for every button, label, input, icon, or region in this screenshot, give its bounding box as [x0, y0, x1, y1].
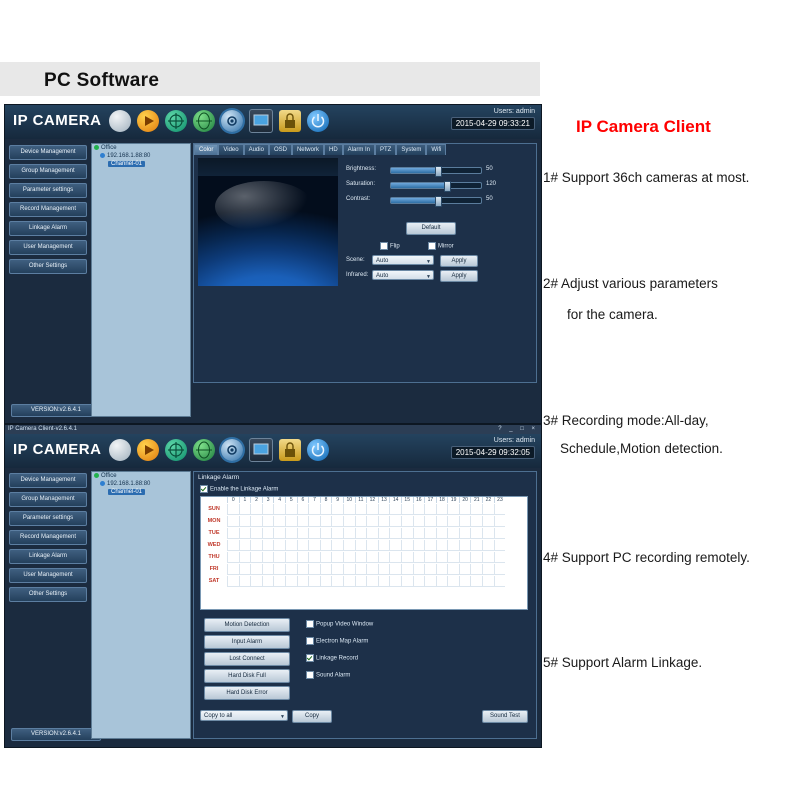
- schedule-cell[interactable]: [285, 564, 297, 575]
- schedule-cell[interactable]: [343, 540, 355, 551]
- schedule-cell[interactable]: [262, 516, 274, 527]
- schedule-cell[interactable]: [389, 576, 401, 587]
- tab-system[interactable]: System: [396, 144, 426, 155]
- schedule-cell[interactable]: [389, 564, 401, 575]
- schedule-cell[interactable]: [459, 504, 471, 515]
- schedule-cell[interactable]: [470, 552, 482, 563]
- hour-label: 8: [320, 497, 332, 503]
- schedule-cell[interactable]: [273, 516, 285, 527]
- tree-root[interactable]: Office: [92, 144, 190, 152]
- schedule-cell[interactable]: [239, 516, 251, 527]
- schedule-cell[interactable]: [331, 504, 343, 515]
- window1-clock: 2015-04-29 09:33:21: [451, 117, 535, 130]
- infrared-label: Infrared:: [346, 272, 368, 278]
- tab-video[interactable]: Video: [218, 144, 243, 155]
- schedule-cell[interactable]: [401, 540, 413, 551]
- schedule-cell[interactable]: [494, 528, 506, 539]
- schedule-cell[interactable]: [227, 576, 239, 587]
- monitor-icon[interactable]: [249, 109, 273, 133]
- hour-label: 15: [401, 497, 413, 503]
- schedule-cell[interactable]: [378, 528, 390, 539]
- infrared-apply-button[interactable]: Apply: [440, 270, 478, 282]
- schedule-cell[interactable]: [424, 504, 436, 515]
- infrared-select[interactable]: Auto▼: [372, 270, 434, 280]
- schedule-cell[interactable]: [343, 564, 355, 575]
- schedule-cell[interactable]: [285, 528, 297, 539]
- schedule-cell[interactable]: [366, 564, 378, 575]
- schedule-cell[interactable]: [285, 540, 297, 551]
- schedule-cell[interactable]: [239, 528, 251, 539]
- lock-icon[interactable]: [279, 439, 301, 461]
- hour-label: 9: [331, 497, 343, 503]
- schedule-cell[interactable]: [320, 516, 332, 527]
- default-button[interactable]: Default: [406, 222, 456, 235]
- schedule-cell[interactable]: [285, 516, 297, 527]
- annotation-2: 2# Adjust various parameters: [543, 276, 718, 291]
- schedule-day-label: THU: [201, 554, 227, 560]
- schedule-cell[interactable]: [378, 540, 390, 551]
- tree-channel[interactable]: Channel-01: [92, 160, 190, 168]
- window2-titlebar: IP Camera Client-v2.6.4.1 ? _ □ ×: [5, 425, 541, 434]
- schedule-cell[interactable]: [250, 564, 262, 575]
- schedule-cell[interactable]: [343, 528, 355, 539]
- schedule-cell[interactable]: [355, 576, 367, 587]
- sidebar-item-group-management[interactable]: Group Management: [9, 492, 87, 507]
- contrast-label: Contrast:: [346, 196, 370, 202]
- hour-label: 14: [389, 497, 401, 503]
- schedule-cell[interactable]: [250, 576, 262, 587]
- schedule-cell[interactable]: [297, 564, 309, 575]
- schedule-cell[interactable]: [250, 504, 262, 515]
- schedule-cell[interactable]: [401, 552, 413, 563]
- schedule-cell[interactable]: [459, 564, 471, 575]
- schedule-cell[interactable]: [436, 564, 448, 575]
- schedule-cell[interactable]: [343, 552, 355, 563]
- schedule-cell[interactable]: [401, 576, 413, 587]
- disc-icon[interactable]: [109, 110, 131, 132]
- mirror-checkbox[interactable]: Mirror: [428, 242, 454, 250]
- crosshair-icon[interactable]: [165, 439, 187, 461]
- schedule-rows[interactable]: SUNMONTUEWEDTHUFRISAT: [201, 503, 527, 587]
- schedule-cell[interactable]: [401, 504, 413, 515]
- window2-content-panel: Linkage Alarm Enable the Linkage Alarm 0…: [193, 471, 537, 739]
- sidebar-item-parameter-settings[interactable]: Parameter settings: [9, 183, 87, 198]
- schedule-cell[interactable]: [459, 516, 471, 527]
- schedule-cell[interactable]: [447, 540, 459, 551]
- schedule-cell[interactable]: [494, 516, 506, 527]
- schedule-cell[interactable]: [331, 528, 343, 539]
- electron-map-alarm-box[interactable]: [306, 637, 314, 645]
- schedule-cell[interactable]: [308, 504, 320, 515]
- schedule-cell[interactable]: [494, 576, 506, 587]
- schedule-cell[interactable]: [227, 516, 239, 527]
- schedule-cell[interactable]: [470, 576, 482, 587]
- sound-test-button[interactable]: Sound Test: [482, 710, 528, 723]
- power-icon[interactable]: [307, 110, 329, 132]
- sidebar-item-record-management[interactable]: Record Management: [9, 530, 87, 545]
- schedule-cell[interactable]: [389, 540, 401, 551]
- brightness-value: 50: [486, 166, 493, 172]
- schedule-cell[interactable]: [413, 516, 425, 527]
- schedule-cell[interactable]: [297, 540, 309, 551]
- scene-apply-button[interactable]: Apply: [440, 255, 478, 267]
- schedule-cell[interactable]: [262, 552, 274, 563]
- schedule-cell[interactable]: [285, 552, 297, 563]
- schedule-cell[interactable]: [308, 576, 320, 587]
- schedule-cell[interactable]: [273, 552, 285, 563]
- tab-hd[interactable]: HD: [324, 144, 343, 155]
- schedule-day-row[interactable]: SUN: [201, 503, 527, 515]
- schedule-cell[interactable]: [470, 528, 482, 539]
- schedule-cell[interactable]: [447, 576, 459, 587]
- tab-audio[interactable]: Audio: [244, 144, 269, 155]
- schedule-cell[interactable]: [366, 540, 378, 551]
- schedule-cell[interactable]: [436, 540, 448, 551]
- tree-ip[interactable]: 192.168.1.88:80: [92, 152, 190, 160]
- schedule-cell[interactable]: [389, 528, 401, 539]
- window1-version: VERSION:v2.6.4.1: [11, 404, 101, 417]
- sidebar-item-user-management[interactable]: User Management: [9, 240, 87, 255]
- device-dot-icon: [100, 153, 105, 158]
- sidebar-item-other-settings[interactable]: Other Settings: [9, 259, 87, 274]
- schedule-cell[interactable]: [366, 576, 378, 587]
- tab-network[interactable]: Network: [292, 144, 324, 155]
- schedule-cell[interactable]: [297, 576, 309, 587]
- schedule-cell[interactable]: [297, 504, 309, 515]
- video-preview[interactable]: [198, 158, 338, 286]
- sidebar-item-record-management[interactable]: Record Management: [9, 202, 87, 217]
- schedule-cell[interactable]: [297, 528, 309, 539]
- schedule-cell[interactable]: [378, 516, 390, 527]
- schedule-cell[interactable]: [424, 540, 436, 551]
- schedule-cell[interactable]: [355, 516, 367, 527]
- monitor-icon[interactable]: [249, 438, 273, 462]
- schedule-cell[interactable]: [273, 564, 285, 575]
- schedule-cell[interactable]: [436, 576, 448, 587]
- schedule-cell[interactable]: [470, 504, 482, 515]
- schedule-cell[interactable]: [343, 576, 355, 587]
- schedule-cell[interactable]: [285, 504, 297, 515]
- schedule-cell[interactable]: [239, 552, 251, 563]
- motion-detection-button[interactable]: Motion Detection: [204, 618, 290, 632]
- mirror-checkbox-box[interactable]: [428, 242, 436, 250]
- schedule-cell[interactable]: [413, 564, 425, 575]
- schedule-cell[interactable]: [320, 564, 332, 575]
- schedule-cell[interactable]: [308, 564, 320, 575]
- sound-alarm-checkbox[interactable]: Sound Alarm: [306, 671, 350, 679]
- schedule-cell[interactable]: [470, 540, 482, 551]
- sidebar-item-device-management[interactable]: Device Management: [9, 145, 87, 160]
- linkage-record-checkbox[interactable]: Linkage Record: [306, 654, 358, 662]
- schedule-cell[interactable]: [494, 552, 506, 563]
- schedule-cell[interactable]: [308, 540, 320, 551]
- hour-label: 10: [343, 497, 355, 503]
- schedule-cell[interactable]: [273, 504, 285, 515]
- hour-label: 3: [262, 497, 274, 503]
- window1-device-tree[interactable]: Office 192.168.1.88:80 Channel-01: [91, 143, 191, 417]
- schedule-day-cells[interactable]: [227, 540, 505, 551]
- window1-user-info: Users: admin 2015-04-29 09:33:21: [451, 108, 535, 130]
- schedule-cell[interactable]: [331, 516, 343, 527]
- schedule-cell[interactable]: [343, 516, 355, 527]
- status-dot-icon: [94, 145, 99, 150]
- schedule-cell[interactable]: [366, 504, 378, 515]
- schedule-cell[interactable]: [262, 528, 274, 539]
- schedule-cell[interactable]: [436, 528, 448, 539]
- sound-alarm-box[interactable]: [306, 671, 314, 679]
- schedule-cell[interactable]: [239, 564, 251, 575]
- copy-to-all-select[interactable]: Copy to all▼: [200, 710, 288, 721]
- schedule-cell[interactable]: [482, 528, 494, 539]
- alarm-schedule-grid[interactable]: 0 1 2 3 4 5 6 7 8 9 10 11 12 13 14 15 16: [200, 496, 528, 610]
- schedule-cell[interactable]: [389, 552, 401, 563]
- schedule-cell[interactable]: [424, 564, 436, 575]
- disc-icon[interactable]: [109, 439, 131, 461]
- schedule-cell[interactable]: [273, 540, 285, 551]
- schedule-cell[interactable]: [262, 564, 274, 575]
- schedule-cell[interactable]: [297, 552, 309, 563]
- schedule-cell[interactable]: [355, 552, 367, 563]
- popup-video-window-checkbox[interactable]: Popup Video Window: [306, 620, 373, 628]
- schedule-cell[interactable]: [401, 564, 413, 575]
- schedule-cell[interactable]: [320, 504, 332, 515]
- schedule-cell[interactable]: [482, 516, 494, 527]
- schedule-cell[interactable]: [239, 504, 251, 515]
- schedule-cell[interactable]: [378, 576, 390, 587]
- schedule-day-label: WED: [201, 542, 227, 548]
- schedule-cell[interactable]: [227, 504, 239, 515]
- schedule-cell[interactable]: [320, 528, 332, 539]
- sidebar-item-other-settings[interactable]: Other Settings: [9, 587, 87, 602]
- schedule-cell[interactable]: [482, 552, 494, 563]
- schedule-day-row[interactable]: TUE: [201, 527, 527, 539]
- tab-osd[interactable]: OSD: [269, 144, 292, 155]
- schedule-cell[interactable]: [308, 528, 320, 539]
- schedule-cell[interactable]: [459, 552, 471, 563]
- hour-label: 21: [470, 497, 482, 503]
- schedule-cell[interactable]: [378, 552, 390, 563]
- electron-map-alarm-checkbox[interactable]: Electron Map Alarm: [306, 637, 368, 645]
- schedule-cell[interactable]: [389, 516, 401, 527]
- lock-icon[interactable]: [279, 110, 301, 132]
- schedule-cell[interactable]: [366, 516, 378, 527]
- popup-video-window-box[interactable]: [306, 620, 314, 628]
- schedule-cell[interactable]: [447, 516, 459, 527]
- schedule-cell[interactable]: [250, 528, 262, 539]
- schedule-cell[interactable]: [447, 552, 459, 563]
- schedule-cell[interactable]: [227, 528, 239, 539]
- schedule-cell[interactable]: [436, 552, 448, 563]
- schedule-cell[interactable]: [401, 516, 413, 527]
- crosshair-icon[interactable]: [165, 110, 187, 132]
- lost-connect-button[interactable]: Lost Connect: [204, 652, 290, 666]
- schedule-day-label: MON: [201, 518, 227, 524]
- schedule-cell[interactable]: [482, 576, 494, 587]
- schedule-cell[interactable]: [447, 528, 459, 539]
- schedule-cell[interactable]: [436, 504, 448, 515]
- tree-root[interactable]: Office: [92, 472, 190, 480]
- schedule-cell[interactable]: [273, 528, 285, 539]
- window2-toolbar: [109, 438, 329, 462]
- schedule-cell[interactable]: [273, 576, 285, 587]
- schedule-cell[interactable]: [297, 516, 309, 527]
- linkage-record-box[interactable]: [306, 654, 314, 662]
- tab-color[interactable]: Color: [194, 144, 218, 155]
- brightness-slider[interactable]: [390, 167, 482, 174]
- schedule-day-row[interactable]: FRI: [201, 563, 527, 575]
- schedule-cell[interactable]: [239, 576, 251, 587]
- schedule-cell[interactable]: [447, 564, 459, 575]
- schedule-cell[interactable]: [227, 540, 239, 551]
- sidebar-item-linkage-alarm[interactable]: Linkage Alarm: [9, 221, 87, 236]
- sidebar-item-parameter-settings[interactable]: Parameter settings: [9, 511, 87, 526]
- hard-disk-full-button[interactable]: Hard Disk Full: [204, 669, 290, 683]
- saturation-slider[interactable]: [390, 182, 482, 189]
- schedule-cell[interactable]: [227, 552, 239, 563]
- tree-channel[interactable]: Channel-01: [92, 488, 190, 496]
- flip-checkbox-box[interactable]: [380, 242, 388, 250]
- schedule-cell[interactable]: [366, 552, 378, 563]
- window2-titlebar-buttons[interactable]: ? _ □ ×: [498, 425, 538, 434]
- schedule-cell[interactable]: [413, 540, 425, 551]
- sidebar-item-group-management[interactable]: Group Management: [9, 164, 87, 179]
- schedule-cell[interactable]: [239, 540, 251, 551]
- schedule-cell[interactable]: [355, 528, 367, 539]
- contrast-slider[interactable]: [390, 197, 482, 204]
- schedule-cell[interactable]: [378, 504, 390, 515]
- gear-icon[interactable]: [221, 110, 243, 132]
- schedule-cell[interactable]: [413, 552, 425, 563]
- schedule-day-row[interactable]: WED: [201, 539, 527, 551]
- schedule-cell[interactable]: [331, 540, 343, 551]
- schedule-cell[interactable]: [320, 540, 332, 551]
- schedule-cell[interactable]: [459, 540, 471, 551]
- schedule-cell[interactable]: [250, 540, 262, 551]
- schedule-cell[interactable]: [355, 504, 367, 515]
- gear-icon[interactable]: [221, 439, 243, 461]
- schedule-cell[interactable]: [285, 576, 297, 587]
- schedule-cell[interactable]: [355, 540, 367, 551]
- schedule-cell[interactable]: [413, 528, 425, 539]
- window2-logo: IP CAMERA: [13, 441, 101, 458]
- power-icon[interactable]: [307, 439, 329, 461]
- schedule-cell[interactable]: [378, 564, 390, 575]
- schedule-cell[interactable]: [482, 504, 494, 515]
- schedule-day-row[interactable]: MON: [201, 515, 527, 527]
- schedule-cell[interactable]: [331, 576, 343, 587]
- schedule-day-cells[interactable]: [227, 516, 505, 527]
- schedule-cell[interactable]: [401, 528, 413, 539]
- schedule-cell[interactable]: [482, 540, 494, 551]
- schedule-cell[interactable]: [494, 564, 506, 575]
- schedule-cell[interactable]: [308, 552, 320, 563]
- schedule-cell[interactable]: [424, 576, 436, 587]
- schedule-cell[interactable]: [331, 552, 343, 563]
- schedule-cell[interactable]: [355, 564, 367, 575]
- sidebar-item-user-management[interactable]: User Management: [9, 568, 87, 583]
- window2-toolbar-bar: IP CAMERA: [5, 434, 541, 468]
- sidebar-item-linkage-alarm[interactable]: Linkage Alarm: [9, 549, 87, 564]
- scene-select[interactable]: Auto▼: [372, 255, 434, 265]
- schedule-cell[interactable]: [331, 564, 343, 575]
- schedule-cell[interactable]: [459, 528, 471, 539]
- flip-checkbox[interactable]: Flip: [380, 242, 400, 250]
- schedule-cell[interactable]: [424, 516, 436, 527]
- schedule-day-row[interactable]: THU: [201, 551, 527, 563]
- schedule-day-cells[interactable]: [227, 564, 505, 575]
- schedule-day-cells[interactable]: [227, 528, 505, 539]
- schedule-cell[interactable]: [343, 504, 355, 515]
- window2-sidebar: Device Management Group Management Param…: [9, 473, 87, 723]
- globe-icon[interactable]: [193, 110, 215, 132]
- schedule-cell[interactable]: [447, 504, 459, 515]
- tree-ip[interactable]: 192.168.1.88:80: [92, 480, 190, 488]
- brightness-label: Brightness:: [346, 166, 376, 172]
- annotation-3: 3# Recording mode:All-day,: [543, 413, 709, 428]
- enable-linkage-alarm-box[interactable]: [200, 485, 208, 493]
- tab-wifi[interactable]: Wifi: [426, 144, 446, 155]
- schedule-cell[interactable]: [320, 552, 332, 563]
- schedule-cell[interactable]: [436, 516, 448, 527]
- schedule-cell[interactable]: [494, 540, 506, 551]
- annotation-1: 1# Support 36ch cameras at most.: [543, 170, 749, 185]
- schedule-day-cells[interactable]: [227, 552, 505, 563]
- schedule-cell[interactable]: [413, 504, 425, 515]
- globe-icon[interactable]: [193, 439, 215, 461]
- schedule-cell[interactable]: [482, 564, 494, 575]
- linkage-alarm-title: Linkage Alarm: [198, 474, 239, 481]
- enable-linkage-alarm-checkbox[interactable]: Enable the Linkage Alarm: [200, 485, 278, 493]
- schedule-cell[interactable]: [424, 528, 436, 539]
- schedule-cell[interactable]: [470, 516, 482, 527]
- schedule-day-row[interactable]: SAT: [201, 575, 527, 587]
- schedule-cell[interactable]: [494, 504, 506, 515]
- tab-ptz[interactable]: PTZ: [375, 144, 396, 155]
- play-icon[interactable]: [137, 439, 159, 461]
- window2-device-tree[interactable]: Office 192.168.1.88:80 Channel-01: [91, 471, 191, 739]
- schedule-cell[interactable]: [459, 576, 471, 587]
- hard-disk-error-button[interactable]: Hard Disk Error: [204, 686, 290, 700]
- schedule-cell[interactable]: [470, 564, 482, 575]
- schedule-cell[interactable]: [308, 516, 320, 527]
- schedule-cell[interactable]: [250, 552, 262, 563]
- schedule-cell[interactable]: [320, 576, 332, 587]
- schedule-cell[interactable]: [424, 552, 436, 563]
- status-dot-icon: [94, 473, 99, 478]
- schedule-cell[interactable]: [413, 576, 425, 587]
- schedule-day-cells[interactable]: [227, 504, 505, 515]
- input-alarm-button[interactable]: Input Alarm: [204, 635, 290, 649]
- schedule-hour-header: 0 1 2 3 4 5 6 7 8 9 10 11 12 13 14 15 16: [201, 497, 527, 503]
- tab-alarm-in[interactable]: Alarm In: [343, 144, 375, 155]
- schedule-cell[interactable]: [250, 516, 262, 527]
- screenshot-root: PC Software IP CAMERA: [0, 0, 800, 800]
- window1-tabs: Color Video Audio OSD Network HD Alarm I…: [194, 144, 446, 155]
- schedule-cell[interactable]: [389, 504, 401, 515]
- schedule-cell[interactable]: [262, 540, 274, 551]
- ip-camera-window-2: IP Camera Client-v2.6.4.1 ? _ □ × IP CAM…: [4, 424, 542, 748]
- play-icon[interactable]: [137, 110, 159, 132]
- schedule-cell[interactable]: [366, 528, 378, 539]
- copy-button[interactable]: Copy: [292, 710, 332, 723]
- sidebar-item-device-management[interactable]: Device Management: [9, 473, 87, 488]
- annotation-2b: for the camera.: [567, 307, 658, 322]
- schedule-cell[interactable]: [262, 504, 274, 515]
- schedule-cell[interactable]: [227, 564, 239, 575]
- hour-label: 20: [459, 497, 471, 503]
- schedule-day-cells[interactable]: [227, 576, 505, 587]
- schedule-cell[interactable]: [262, 576, 274, 587]
